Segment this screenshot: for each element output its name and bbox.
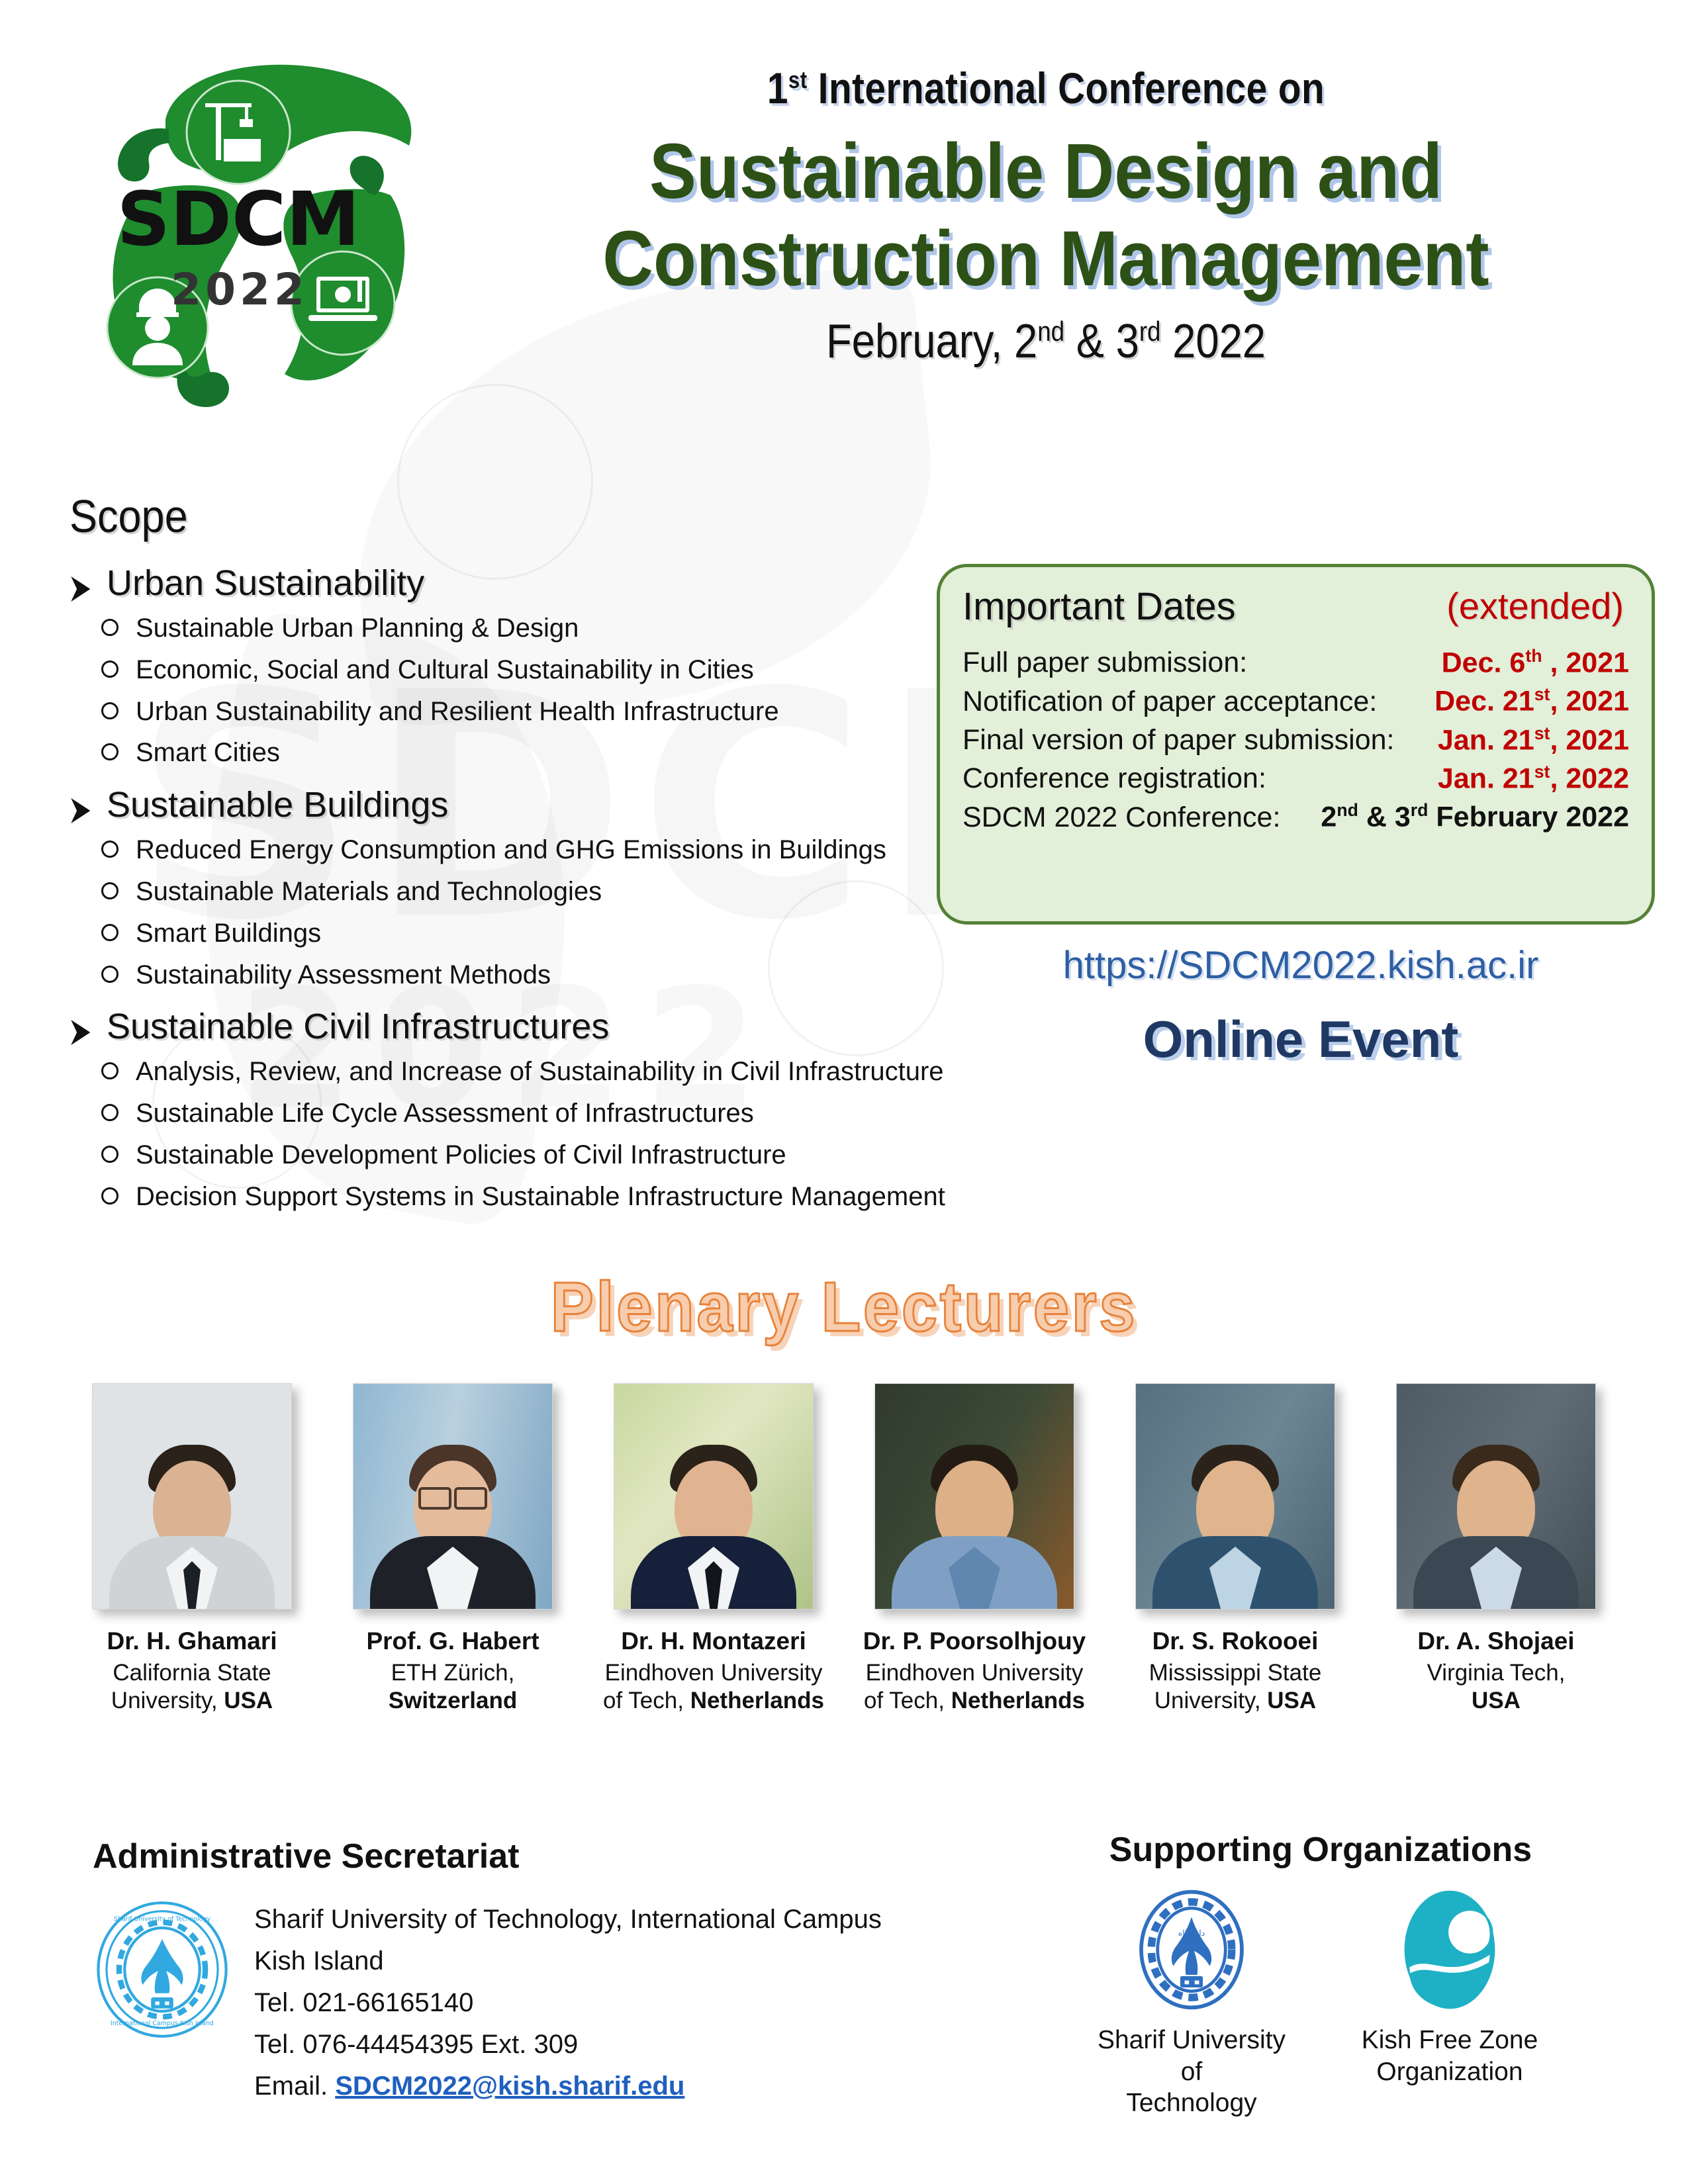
list-item: دانشگاه Sharif University of Technology — [1092, 1887, 1291, 2119]
date-label: Full paper submission: — [962, 647, 1247, 679]
speaker-name: Prof. G. Habert — [366, 1627, 539, 1656]
scope-topic-heading: Sustainable Buildings — [70, 784, 1029, 825]
date-mid: & 3 — [1064, 315, 1139, 368]
scope-subitem-list: Sustainable Urban Planning & Design Econ… — [70, 608, 1029, 774]
table-row: SDCM 2022 Conference: 2nd & 3rd February… — [962, 797, 1629, 836]
affiliation-line-2: University, USA — [1149, 1687, 1322, 1715]
circle-bullet-icon — [101, 1104, 118, 1121]
list-item: Dr. P. Poorsolhjouy Eindhoven University… — [852, 1383, 1097, 1715]
circle-bullet-icon — [101, 924, 118, 941]
admin-line: Tel. 021-66165140 — [254, 1982, 882, 2024]
speaker-photo — [874, 1383, 1074, 1610]
admin-email-line: Email. SDCM2022@kish.sharif.edu — [254, 2066, 882, 2107]
speaker-affiliation: Eindhoven University of Tech, Netherland… — [603, 1659, 824, 1715]
speaker-photo — [353, 1383, 553, 1610]
date-value: Dec. 21st, 2021 — [1434, 684, 1629, 717]
circle-bullet-icon — [101, 966, 118, 983]
table-row: Notification of paper acceptance: Dec. 2… — [962, 682, 1629, 720]
scope-topic-label: Sustainable Buildings — [107, 784, 448, 825]
circle-bullet-icon — [101, 841, 118, 858]
list-item: Kish Free Zone Organization — [1350, 1887, 1549, 2119]
admin-contact-lines: Sharif University of Technology, Interna… — [254, 1895, 882, 2107]
ordinal-rest: International Conference on — [808, 64, 1325, 113]
list-item: Dr. A. Shojaei Virginia Tech, USA — [1374, 1383, 1618, 1715]
arrow-bullet-icon — [70, 792, 92, 818]
conference-website-link[interactable]: https://SDCM2022.kish.ac.ir — [940, 943, 1662, 987]
speaker-photo — [1135, 1383, 1335, 1610]
scope-subitem-list: Analysis, Review, and Increase of Sustai… — [70, 1051, 1029, 1217]
date-label: SDCM 2022 Conference: — [962, 801, 1280, 834]
conference-ordinal-line: 1st International Conference on — [511, 63, 1581, 113]
list-item: Sustainable Urban Planning & Design — [70, 608, 1029, 649]
list-item-label: Reduced Energy Consumption and GHG Emiss… — [136, 835, 886, 865]
speaker-affiliation: California State University, USA — [111, 1659, 273, 1715]
list-item: Sustainability Assessment Methods — [70, 954, 1029, 996]
sdcm-logo: SDCM 2022 — [46, 26, 430, 424]
online-event-badge: Online Event — [940, 1009, 1662, 1069]
speaker-name: Dr. P. Poorsolhjouy — [863, 1627, 1086, 1656]
list-item: Sustainable Development Policies of Civi… — [70, 1134, 1029, 1176]
svg-text:دانشگاه: دانشگاه — [1178, 1928, 1205, 1938]
list-item-label: Sustainable Urban Planning & Design — [136, 614, 579, 643]
arrow-bullet-icon — [70, 1013, 92, 1040]
list-item-label: Decision Support Systems in Sustainable … — [136, 1182, 945, 1212]
sharif-seal-icon: Sharif University of Technology Internat… — [93, 1900, 232, 2039]
title-line-1: Sustainable Design and — [486, 128, 1606, 215]
table-row: Full paper submission: Dec. 6th , 2021 — [962, 643, 1629, 682]
plenary-speakers-list: Dr. H. Ghamari California State Universi… — [70, 1383, 1618, 1715]
list-item-label: Urban Sustainability and Resilient Healt… — [136, 697, 779, 727]
list-item: Analysis, Review, and Increase of Sustai… — [70, 1051, 1029, 1093]
circle-bullet-icon — [101, 1062, 118, 1079]
list-item-label: Smart Cities — [136, 738, 280, 768]
list-item-label: Sustainability Assessment Methods — [136, 960, 551, 990]
svg-text:2022: 2022 — [171, 264, 308, 315]
important-dates-title: Important Dates — [962, 584, 1236, 629]
administrative-secretariat-section: Administrative Secretariat — [93, 1837, 973, 2107]
supporting-organizations-section: Supporting Organizations — [1033, 1830, 1609, 2119]
org-name-line-1: Sharif University of — [1092, 2025, 1291, 2087]
list-item: Dr. S. Rokooei Mississippi State Univers… — [1113, 1383, 1358, 1715]
date-label: Notification of paper acceptance: — [962, 686, 1377, 718]
list-item-label: Sustainable Development Policies of Civi… — [136, 1140, 786, 1170]
list-item-label: Sustainable Materials and Technologies — [136, 877, 602, 907]
list-item-label: Sustainable Life Cycle Assessment of Inf… — [136, 1099, 754, 1128]
speaker-affiliation: Eindhoven University of Tech, Netherland… — [864, 1659, 1085, 1715]
scope-topic-label: Urban Sustainability — [107, 563, 424, 604]
conference-date: February, 2nd & 3rd 2022 — [498, 314, 1593, 369]
list-item: Dr. H. Ghamari California State Universi… — [70, 1383, 314, 1715]
list-item: Sustainable Life Cycle Assessment of Inf… — [70, 1093, 1029, 1134]
admin-heading: Administrative Secretariat — [93, 1837, 973, 1876]
affiliation-line-2: Switzerland — [389, 1687, 517, 1715]
ordinal-suffix: st — [788, 66, 808, 93]
speaker-name: Dr. H. Ghamari — [107, 1627, 277, 1656]
speaker-affiliation: ETH Zürich, Switzerland — [389, 1659, 517, 1715]
sharif-seal-icon: دانشگاه — [1129, 1887, 1254, 2013]
affiliation-line-1: California State — [111, 1659, 273, 1688]
org-name-line-2: Organization — [1362, 2056, 1538, 2088]
page-title: Sustainable Design and Construction Mana… — [486, 128, 1606, 302]
list-item: Smart Buildings — [70, 913, 1029, 954]
scope-topic-civil: Sustainable Civil Infrastructures Analys… — [70, 1006, 1029, 1217]
speaker-name: Dr. S. Rokooei — [1152, 1627, 1319, 1656]
svg-text:International Campus-Kish Isla: International Campus-Kish Island — [111, 2020, 214, 2027]
speaker-photo — [1396, 1383, 1596, 1610]
date-value: Dec. 6th , 2021 — [1442, 646, 1629, 679]
scope-topic-heading: Urban Sustainability — [70, 563, 1029, 604]
list-item-label: Smart Buildings — [136, 919, 321, 948]
affiliation-line-2: University, USA — [111, 1687, 273, 1715]
admin-line: Sharif University of Technology, Interna… — [254, 1899, 882, 1940]
email-label: Email. — [254, 2071, 335, 2101]
plenary-lecturers-title: Plenary Lecturers — [68, 1267, 1620, 1347]
circle-bullet-icon — [101, 619, 118, 636]
scope-heading: Scope — [70, 490, 933, 543]
list-item: Smart Cities — [70, 732, 1029, 774]
affiliation-line-1: Eindhoven University — [864, 1659, 1085, 1688]
title-line-2: Construction Management — [486, 215, 1606, 302]
list-item: Economic, Social and Cultural Sustainabi… — [70, 649, 1029, 691]
svg-text:Sharif University of Technolog: Sharif University of Technology — [114, 1916, 211, 1923]
list-item-label: Analysis, Review, and Increase of Sustai… — [136, 1057, 944, 1087]
org-name-line-2: Technology — [1092, 2087, 1291, 2119]
ordinal-number: 1 — [767, 64, 788, 113]
speaker-photo — [614, 1383, 814, 1610]
email-link[interactable]: SDCM2022@kish.sharif.edu — [335, 2071, 684, 2101]
speaker-name: Dr. A. Shojaei — [1417, 1627, 1574, 1656]
list-item: Dr. H. Montazeri Eindhoven University of… — [591, 1383, 836, 1715]
list-item: Urban Sustainability and Resilient Healt… — [70, 691, 1029, 733]
scope-topic-buildings: Sustainable Buildings Reduced Energy Con… — [70, 784, 1029, 995]
date-value: Jan. 21st, 2021 — [1438, 723, 1629, 756]
date-label: Conference registration: — [962, 762, 1266, 795]
date-label: Final version of paper submission: — [962, 724, 1394, 756]
list-item: Prof. G. Habert ETH Zürich, Switzerland — [330, 1383, 575, 1715]
date-prefix: February, 2 — [826, 315, 1037, 368]
circle-bullet-icon — [101, 743, 118, 760]
list-item: Reduced Energy Consumption and GHG Emiss… — [70, 829, 1029, 871]
kish-free-zone-icon — [1387, 1887, 1513, 2013]
scope-subitem-list: Reduced Energy Consumption and GHG Emiss… — [70, 829, 1029, 995]
svg-text:SDCM: SDCM — [117, 177, 359, 263]
arrow-bullet-icon — [70, 570, 92, 596]
affiliation-line-1: Mississippi State — [1149, 1659, 1322, 1688]
admin-line: Kish Island — [254, 1940, 882, 1982]
circle-bullet-icon — [101, 702, 118, 719]
admin-line: Tel. 076-44454395 Ext. 309 — [254, 2024, 882, 2066]
affiliation-line-2: of Tech, Netherlands — [864, 1687, 1085, 1715]
circle-bullet-icon — [101, 1187, 118, 1205]
circle-bullet-icon — [101, 660, 118, 678]
speaker-name: Dr. H. Montazeri — [621, 1627, 806, 1656]
speaker-affiliation: Virginia Tech, USA — [1427, 1659, 1566, 1715]
affiliation-line-2: of Tech, Netherlands — [603, 1687, 824, 1715]
scope-topic-heading: Sustainable Civil Infrastructures — [70, 1006, 1029, 1047]
speaker-affiliation: Mississippi State University, USA — [1149, 1659, 1322, 1715]
speaker-photo — [92, 1383, 292, 1610]
date-sup-1: nd — [1037, 316, 1064, 347]
list-item: Sustainable Materials and Technologies — [70, 871, 1029, 913]
important-dates-header: Important Dates (extended) — [962, 584, 1629, 629]
affiliation-line-1: ETH Zürich, — [389, 1659, 517, 1688]
org-name-line-1: Kish Free Zone — [1362, 2025, 1538, 2056]
affiliation-line-2: USA — [1427, 1687, 1566, 1715]
scope-section: Scope Urban Sustainability Sustainable U… — [70, 490, 1029, 1218]
supporting-heading: Supporting Organizations — [1033, 1830, 1609, 1870]
support-org-name: Sharif University of Technology — [1092, 2025, 1291, 2119]
important-dates-rows: Full paper submission: Dec. 6th , 2021 N… — [962, 643, 1629, 837]
scope-topic-label: Sustainable Civil Infrastructures — [107, 1006, 609, 1047]
list-item-label: Economic, Social and Cultural Sustainabi… — [136, 655, 754, 685]
circle-bullet-icon — [101, 1146, 118, 1163]
extended-badge: (extended) — [1446, 584, 1629, 627]
date-suffix: 2022 — [1160, 315, 1266, 368]
date-value: 2nd & 3rd February 2022 — [1321, 800, 1629, 833]
poster-header: 1st International Conference on Sustaina… — [424, 63, 1668, 369]
support-org-name: Kish Free Zone Organization — [1362, 2025, 1538, 2087]
conference-poster: SDCM 2022 — [0, 0, 1688, 2184]
circle-bullet-icon — [101, 882, 118, 899]
glasses-icon — [418, 1487, 487, 1504]
scope-topic-urban: Urban Sustainability Sustainable Urban P… — [70, 563, 1029, 774]
important-dates-box: Important Dates (extended) Full paper su… — [937, 564, 1655, 925]
table-row: Conference registration: Jan. 21st, 2022 — [962, 759, 1629, 797]
date-sup-2: rd — [1139, 316, 1161, 347]
affiliation-line-1: Eindhoven University — [603, 1659, 824, 1688]
affiliation-line-1: Virginia Tech, — [1427, 1659, 1566, 1688]
date-value: Jan. 21st, 2022 — [1438, 762, 1629, 795]
table-row: Final version of paper submission: Jan. … — [962, 721, 1629, 759]
list-item: Decision Support Systems in Sustainable … — [70, 1176, 1029, 1218]
